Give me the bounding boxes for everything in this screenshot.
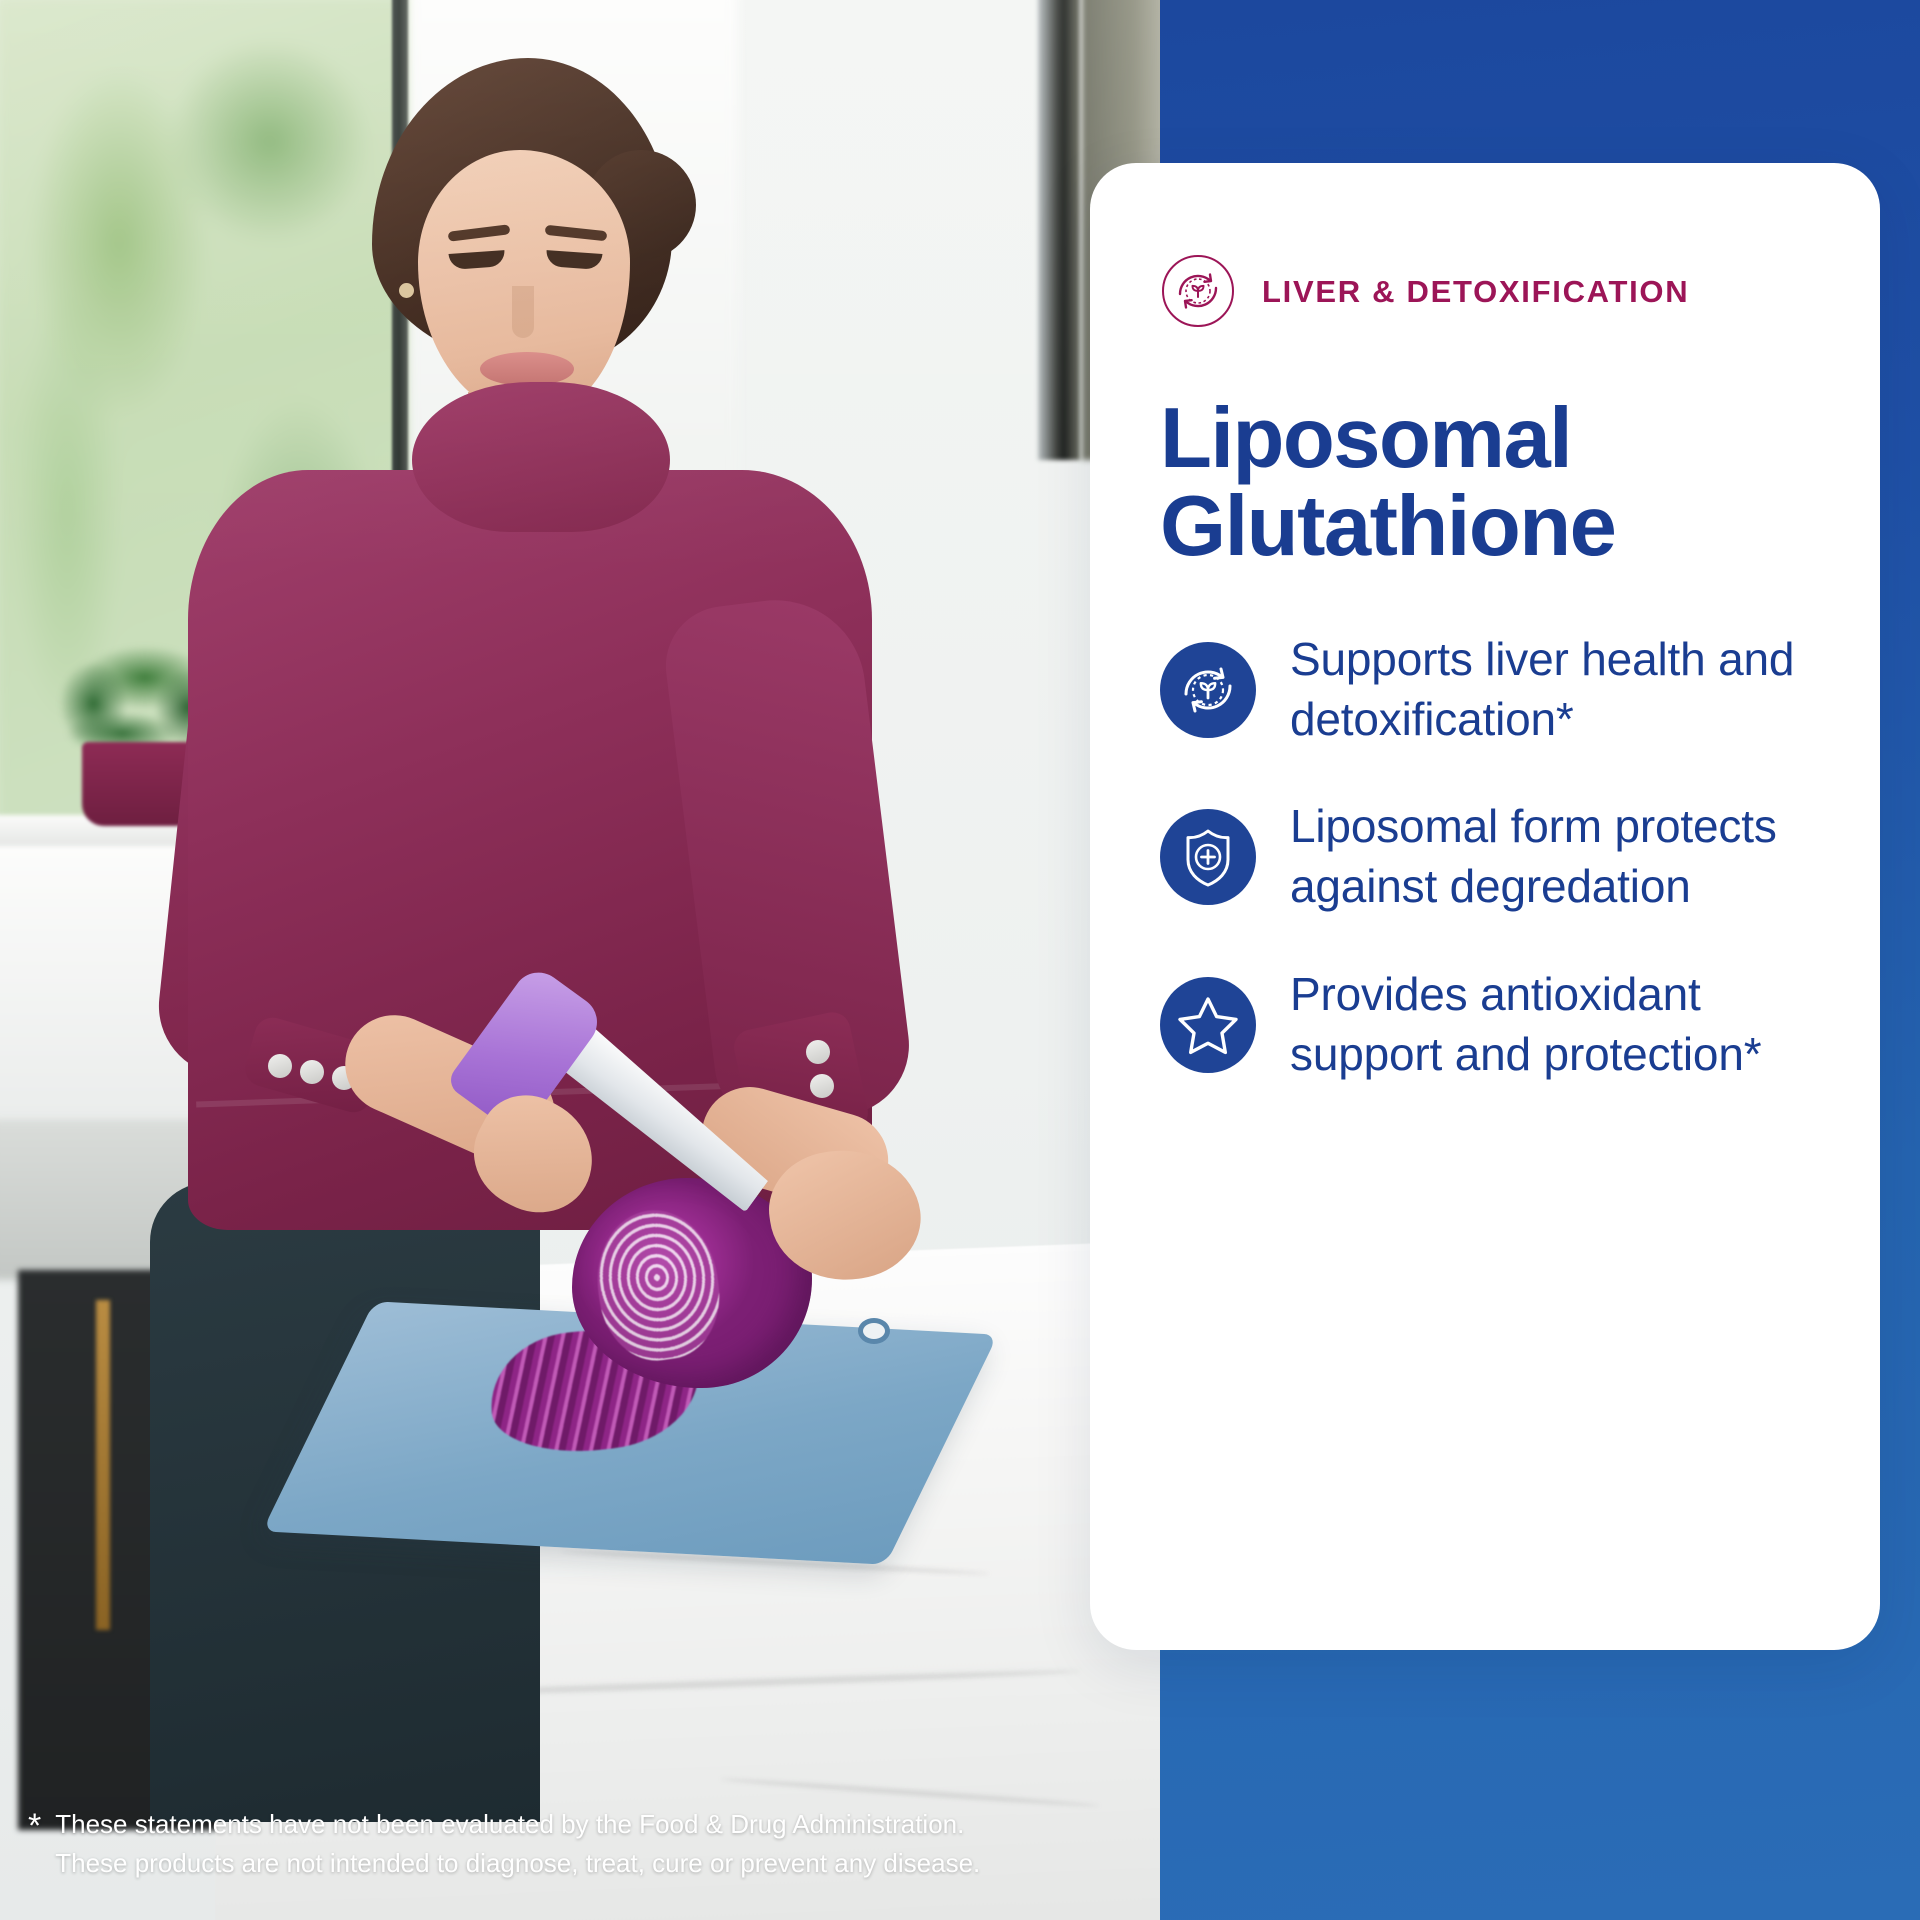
cuff-button [268,1054,292,1078]
cabinet-handle [96,1300,110,1630]
benefit-line: health and [1581,633,1794,685]
benefit-line: degredation [1450,860,1691,912]
earring [399,283,414,298]
benefit-text: Provides antioxidant support and protect… [1290,965,1820,1085]
benefit-line: antioxidant [1480,968,1700,1020]
cuff-button [806,1040,830,1064]
lips [480,352,574,386]
benefit-line: Liposomal form [1290,800,1602,852]
benefit-line: support and [1290,1028,1531,1080]
asterisk-marker: * [28,1805,41,1843]
benefit-line: Provides [1290,968,1468,1020]
promo-stage: LIVER & DETOXIFICATION Liposomal Glutath… [0,0,1920,1920]
fda-disclaimer: * These statements have not been evaluat… [28,1805,1108,1884]
disclaimer-text: These statements have not been evaluated… [55,1805,980,1884]
window-frame-dark [1038,0,1080,460]
category-badge-label: LIVER & DETOXIFICATION [1262,276,1689,307]
sprout-cycle-icon [1160,642,1256,738]
benefits-list: Supports liver health and detoxification… [1160,630,1820,1085]
benefit-item: Liposomal form protects against degredat… [1160,797,1820,917]
category-badge: LIVER & DETOXIFICATION [1160,253,1820,329]
lifestyle-photo [0,0,1165,1920]
disclaimer-line-2: These products are not intended to diagn… [55,1844,980,1884]
nose [512,286,534,338]
sweater-collar [412,382,670,532]
benefit-line: protection* [1544,1028,1762,1080]
benefit-item: Provides antioxidant support and protect… [1160,965,1820,1085]
benefit-line: Supports liver [1290,633,1569,685]
title-line-2: Glutathione [1160,483,1820,571]
cuff-button [810,1074,834,1098]
page-title: Liposomal Glutathione [1160,395,1820,572]
title-line-1: Liposomal [1160,395,1820,483]
benefit-item: Supports liver health and detoxification… [1160,630,1820,750]
liver-detox-cycle-icon [1160,253,1236,329]
star-icon [1160,977,1256,1073]
product-info-card: LIVER & DETOXIFICATION Liposomal Glutath… [1090,163,1880,1650]
cutting-board-hole [858,1318,890,1344]
benefit-text: Liposomal form protects against degredat… [1290,797,1820,917]
disclaimer-line-1: These statements have not been evaluated… [55,1805,980,1845]
cuff-button [300,1060,324,1084]
benefit-text: Supports liver health and detoxification… [1290,630,1820,750]
shield-plus-icon [1160,809,1256,905]
benefit-line: detoxification* [1290,693,1574,745]
